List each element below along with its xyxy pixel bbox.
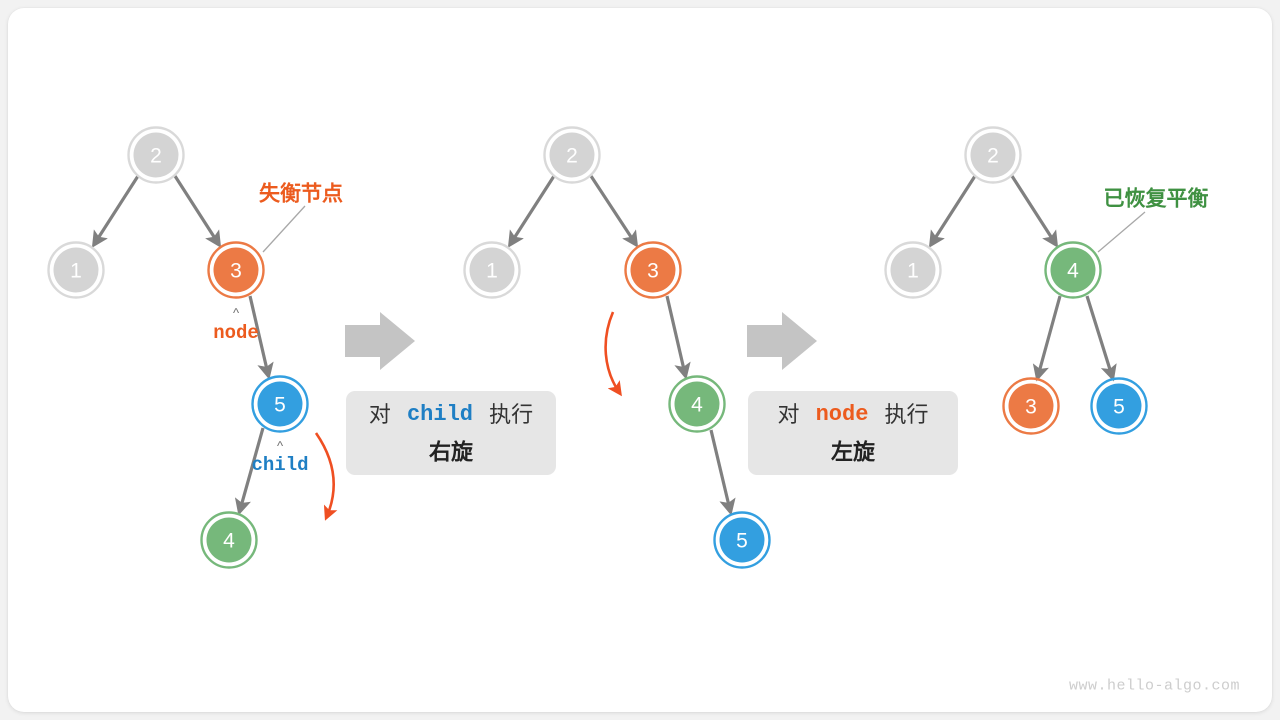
unbalanced-node-annotation: 失衡节点 xyxy=(259,182,343,206)
edge-4-to-5 xyxy=(711,430,730,510)
block-arrow-shape xyxy=(345,312,415,370)
node-value: 1 xyxy=(70,260,82,283)
node-3-unbalanced[interactable]: 3 xyxy=(626,243,681,298)
node-value: 2 xyxy=(150,145,162,168)
instruction-suffix: 执行 xyxy=(885,402,929,427)
edge-4-to-3 xyxy=(1038,296,1060,376)
node-value: 4 xyxy=(223,530,235,553)
node-value: 4 xyxy=(691,394,703,417)
panel-after: 2 1 4 3 5 已恢 xyxy=(886,128,1209,434)
diagram-canvas: 2 1 3 5 4 xyxy=(0,0,1280,720)
instruction-var: node xyxy=(816,402,869,427)
instruction-prefix: 对 xyxy=(369,402,391,427)
node-value: 1 xyxy=(907,260,919,283)
node-value: 1 xyxy=(486,260,498,283)
node-value: 3 xyxy=(230,260,242,283)
node-4[interactable]: 4 xyxy=(670,377,725,432)
node-3[interactable]: 3 xyxy=(1004,379,1059,434)
annotation-leader-line xyxy=(263,206,305,252)
panel-before: 2 1 3 5 4 xyxy=(49,128,344,568)
edge-3-to-4 xyxy=(667,296,685,374)
node-value: 4 xyxy=(1067,260,1079,283)
diagram-stage: 2 1 3 5 4 xyxy=(0,0,1280,720)
transition-arrow-2 xyxy=(747,312,817,370)
instruction-prefix: 对 xyxy=(777,402,799,427)
node-4-balanced[interactable]: 4 xyxy=(1046,243,1101,298)
instruction-line-2: 左旋 xyxy=(831,440,876,465)
node-value: 5 xyxy=(1113,396,1125,419)
panel-middle: 2 1 3 4 5 xyxy=(465,128,770,568)
edge-2-to-1 xyxy=(932,176,975,243)
node-1[interactable]: 1 xyxy=(49,243,104,298)
transition-arrow-1 xyxy=(345,312,415,370)
balanced-annotation: 已恢复平衡 xyxy=(1104,187,1209,211)
child-var-label: child xyxy=(251,454,308,476)
node-1[interactable]: 1 xyxy=(886,243,941,298)
node-2[interactable]: 2 xyxy=(966,128,1021,183)
instruction-line-2: 右旋 xyxy=(429,440,474,465)
instruction-line-1: 对 child 执行 xyxy=(369,402,533,427)
instruction-suffix: 执行 xyxy=(489,402,533,427)
instruction-line-1: 对 node 执行 xyxy=(777,402,928,427)
node-value: 2 xyxy=(566,145,578,168)
watermark: www.hello-algo.com xyxy=(1069,678,1240,695)
edge-2-to-3 xyxy=(591,176,635,243)
node-3-unbalanced[interactable]: 3 xyxy=(209,243,264,298)
edge-2-to-4 xyxy=(1012,176,1055,243)
right-rotation-instruction: 对 child 执行 右旋 xyxy=(346,391,556,475)
node-2[interactable]: 2 xyxy=(545,128,600,183)
node-5[interactable]: 5 xyxy=(1092,379,1147,434)
child-caret-icon: ^ xyxy=(277,439,284,454)
node-value: 3 xyxy=(1025,396,1037,419)
node-1[interactable]: 1 xyxy=(465,243,520,298)
node-value: 2 xyxy=(987,145,999,168)
node-value: 5 xyxy=(736,530,748,553)
edge-2-to-3 xyxy=(175,176,218,243)
annotation-leader-line xyxy=(1098,212,1145,252)
instruction-var: child xyxy=(407,402,473,427)
left-rotation-curve-arrow xyxy=(606,312,619,392)
node-4[interactable]: 4 xyxy=(202,513,257,568)
edge-4-to-5 xyxy=(1087,296,1112,376)
node-caret-icon: ^ xyxy=(233,306,240,321)
node-5-child[interactable]: 5 xyxy=(253,377,308,432)
node-5[interactable]: 5 xyxy=(715,513,770,568)
edge-2-to-1 xyxy=(95,176,138,243)
left-rotation-instruction: 对 node 执行 左旋 xyxy=(748,391,958,475)
node-value: 3 xyxy=(647,260,659,283)
edge-2-to-1 xyxy=(511,176,554,243)
right-rotation-curve-arrow xyxy=(316,433,334,516)
node-var-label: node xyxy=(213,322,259,344)
node-value: 5 xyxy=(274,394,286,417)
block-arrow-shape xyxy=(747,312,817,370)
node-2[interactable]: 2 xyxy=(129,128,184,183)
